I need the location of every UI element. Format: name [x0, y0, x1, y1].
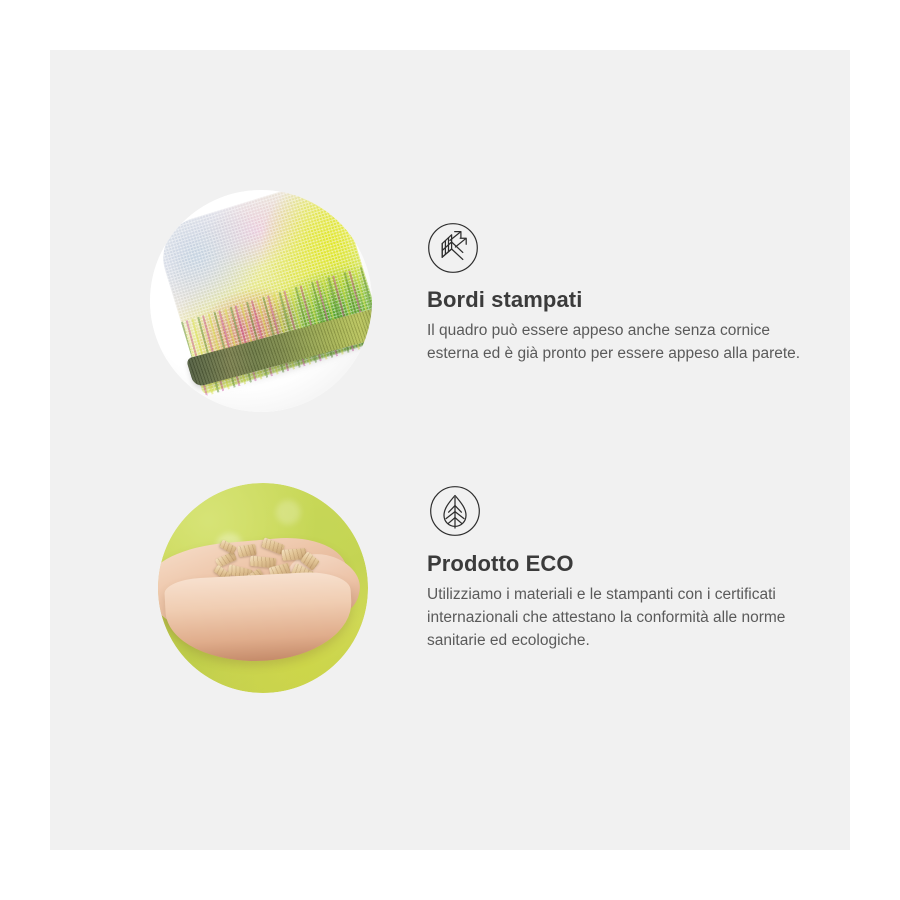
product-feature-infographic: Bordi stampati Il quadro può essere appe… — [0, 0, 900, 900]
hands-holding-wood-chips-photo — [158, 483, 368, 693]
feature-description: Utilizziamo i materiali e le stampanti c… — [427, 583, 807, 652]
feature-description: Il quadro può essere appeso anche senza … — [427, 319, 807, 365]
leaf-icon — [429, 485, 481, 537]
feature-title: Prodotto ECO — [427, 552, 807, 576]
canvas-edge-arrows-icon — [427, 222, 479, 274]
canvas-printed-edge-photo — [150, 190, 372, 412]
feature-text-printed-edges: Bordi stampati Il quadro può essere appe… — [427, 288, 807, 365]
feature-title: Bordi stampati — [427, 288, 807, 312]
feature-text-eco-product: Prodotto ECO Utilizziamo i materiali e l… — [427, 552, 807, 652]
content-panel: Bordi stampati Il quadro può essere appe… — [50, 50, 850, 850]
